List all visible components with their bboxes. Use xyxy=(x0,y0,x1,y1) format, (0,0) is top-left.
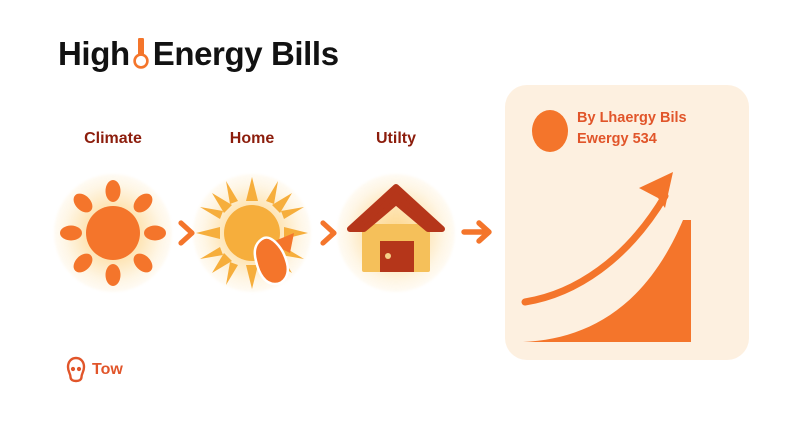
step-label-home: Home xyxy=(230,130,274,148)
orange-circle-icon xyxy=(532,110,568,152)
chevron-right-icon xyxy=(170,216,204,250)
rising-arrow-chart-icon xyxy=(515,160,739,352)
bulb-outline-icon xyxy=(64,356,88,383)
card-line-1: By Lhaergy Bils xyxy=(577,108,735,129)
separator-chevron-2 xyxy=(312,216,346,250)
title-word-before: High xyxy=(58,37,130,70)
separator-chevron-1 xyxy=(170,216,204,250)
thermometer-icon xyxy=(132,36,150,70)
house-icon xyxy=(334,171,458,295)
infographic-canvas: High Energy Bills Climate Home Utilty xyxy=(0,0,800,432)
result-card: By Lhaergy Bils Ewergy 534 xyxy=(505,85,749,360)
footer-brand: Tow xyxy=(64,356,123,383)
card-line-2: Ewergy 534 xyxy=(577,129,735,150)
footer-label: Tow xyxy=(92,362,123,378)
title-word-after: Energy Bills xyxy=(153,37,339,70)
flow-step-utility xyxy=(334,171,458,295)
chevron-right-icon xyxy=(312,216,346,250)
separator-arrow xyxy=(460,214,494,248)
step-label-climate: Climate xyxy=(84,130,142,148)
page-title: High Energy Bills xyxy=(58,36,339,70)
card-text-block: By Lhaergy Bils Ewergy 534 xyxy=(577,108,735,149)
step-label-utility: Utilty xyxy=(376,130,416,148)
sun-with-droplet-icon xyxy=(190,171,314,295)
flow-step-climate xyxy=(51,171,175,295)
arrow-right-icon xyxy=(460,214,496,250)
flow-step-home xyxy=(190,171,314,295)
sun-icon xyxy=(51,171,175,295)
